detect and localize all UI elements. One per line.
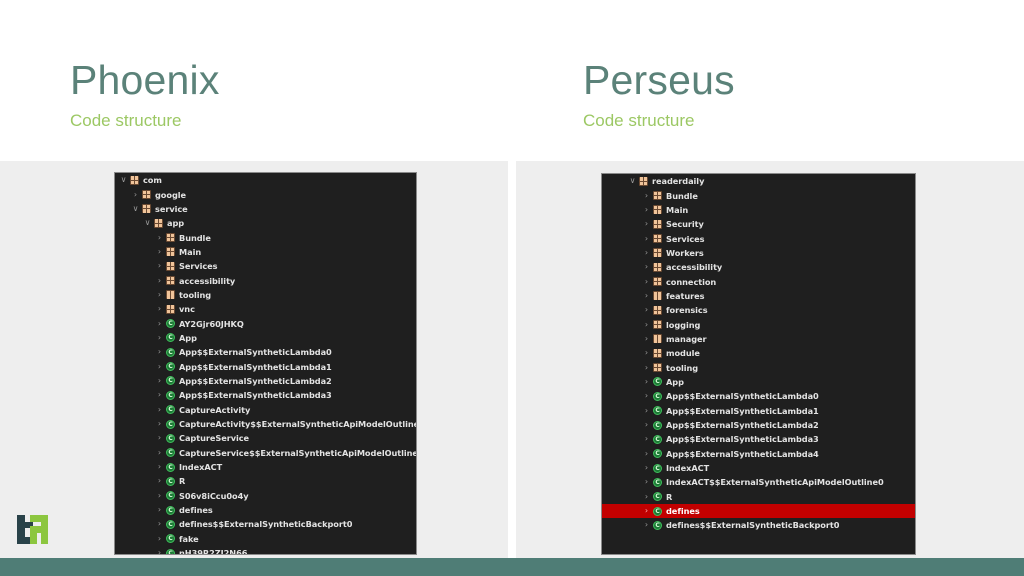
chevron-right-icon[interactable]: › bbox=[155, 277, 164, 285]
tree-row-label: IndexACT bbox=[666, 463, 709, 473]
class-icon: C bbox=[166, 434, 175, 443]
tree-row-label: google bbox=[155, 190, 186, 200]
tree-row-selected[interactable]: ›Cdefines bbox=[602, 504, 915, 518]
package-icon bbox=[130, 176, 139, 185]
chevron-right-icon[interactable]: › bbox=[155, 434, 164, 442]
chevron-right-icon[interactable]: › bbox=[642, 263, 651, 271]
package-icon bbox=[653, 363, 662, 372]
title-block-perseus: Perseus Code structure bbox=[583, 56, 735, 132]
tree-row[interactable]: ›CApp$$ExternalSyntheticLambda0 bbox=[115, 345, 416, 359]
chevron-right-icon[interactable]: › bbox=[155, 334, 164, 342]
class-icon: C bbox=[653, 449, 662, 458]
tree-row[interactable]: ›Bundle bbox=[602, 188, 915, 202]
chevron-right-icon[interactable]: › bbox=[642, 249, 651, 257]
chevron-right-icon[interactable]: › bbox=[642, 407, 651, 415]
chevron-down-icon[interactable]: ∨ bbox=[119, 176, 128, 184]
chevron-right-icon[interactable]: › bbox=[155, 320, 164, 328]
chevron-right-icon[interactable]: › bbox=[642, 392, 651, 400]
class-icon: C bbox=[653, 464, 662, 473]
tree-row-label: App$$ExternalSyntheticLambda2 bbox=[666, 420, 819, 430]
tree-row[interactable]: ›tooling bbox=[115, 288, 416, 302]
class-icon: C bbox=[166, 420, 175, 429]
tree-row[interactable]: ∨com bbox=[115, 173, 416, 187]
package-icon bbox=[154, 219, 163, 228]
tree-row[interactable]: ›CnH39R2ZI2N66 bbox=[115, 546, 416, 555]
chevron-right-icon[interactable]: › bbox=[642, 364, 651, 372]
package-icon bbox=[653, 320, 662, 329]
chevron-right-icon[interactable]: › bbox=[155, 291, 164, 299]
chevron-right-icon[interactable]: › bbox=[642, 278, 651, 286]
class-icon: C bbox=[166, 477, 175, 486]
package-icon bbox=[166, 276, 175, 285]
chevron-right-icon[interactable]: › bbox=[155, 420, 164, 428]
tree-row[interactable]: ›CApp$$ExternalSyntheticLambda3 bbox=[115, 388, 416, 402]
tree-row-label: app bbox=[167, 218, 184, 228]
tree-row-label: service bbox=[155, 204, 188, 214]
code-tree-phoenix[interactable]: ∨com›google∨service∨app›Bundle›Main›Serv… bbox=[114, 172, 417, 555]
package-icon bbox=[166, 233, 175, 242]
tree-row[interactable]: ›manager bbox=[602, 332, 915, 346]
class-icon: C bbox=[166, 534, 175, 543]
tree-row[interactable]: ›CCaptureService bbox=[115, 431, 416, 445]
package-icon bbox=[653, 277, 662, 286]
class-icon: C bbox=[166, 376, 175, 385]
tree-row-label: defines bbox=[666, 506, 700, 516]
package-icon bbox=[653, 248, 662, 257]
package-icon bbox=[653, 191, 662, 200]
tree-row[interactable]: ›Services bbox=[115, 259, 416, 273]
tree-row-label: CaptureActivity bbox=[179, 405, 250, 415]
tree-row[interactable]: ›CR bbox=[115, 474, 416, 488]
package-icon bbox=[653, 205, 662, 214]
title-block-phoenix: Phoenix Code structure bbox=[70, 56, 220, 132]
tree-row[interactable]: ›CIndexACT$$ExternalSyntheticApiModelOut… bbox=[602, 475, 915, 489]
chevron-right-icon[interactable]: › bbox=[642, 521, 651, 529]
class-icon: C bbox=[653, 478, 662, 487]
package-icon bbox=[166, 262, 175, 271]
chevron-right-icon[interactable]: › bbox=[155, 391, 164, 399]
tree-row[interactable]: ›CApp bbox=[115, 331, 416, 345]
page-subtitle-phoenix: Code structure bbox=[70, 110, 220, 132]
package-icon bbox=[653, 349, 662, 358]
chevron-right-icon[interactable]: › bbox=[642, 493, 651, 501]
tree-row-label: AY2Gjr60JHKQ bbox=[179, 319, 244, 329]
tree-row[interactable]: ›forensics bbox=[602, 303, 915, 317]
tree-row-label: defines bbox=[179, 505, 213, 515]
tree-row-label: tooling bbox=[179, 290, 211, 300]
tree-row[interactable]: ›Cdefines$$ExternalSyntheticBackport0 bbox=[602, 518, 915, 532]
class-icon: C bbox=[166, 549, 175, 555]
tree-row[interactable]: ›CApp bbox=[602, 375, 915, 389]
tree-row[interactable]: ›Security bbox=[602, 217, 915, 231]
chevron-right-icon[interactable]: › bbox=[642, 206, 651, 214]
package-icon bbox=[166, 290, 175, 299]
tree-row-label: Services bbox=[666, 234, 705, 244]
tree-row[interactable]: ∨app bbox=[115, 216, 416, 230]
class-icon: C bbox=[166, 520, 175, 529]
tree-row-label: tooling bbox=[666, 363, 698, 373]
tree-row-label: CaptureService$$ExternalSyntheticApiMode… bbox=[179, 448, 417, 458]
tree-row-label: IndexACT bbox=[179, 462, 222, 472]
class-icon: C bbox=[166, 506, 175, 515]
chevron-right-icon[interactable]: › bbox=[642, 192, 651, 200]
footer-bar bbox=[0, 558, 1024, 576]
class-icon: C bbox=[166, 391, 175, 400]
tree-row[interactable]: ›Bundle bbox=[115, 230, 416, 244]
tree-row-label: forensics bbox=[666, 305, 708, 315]
tree-row-label: App bbox=[179, 333, 197, 343]
class-icon: C bbox=[166, 491, 175, 500]
chevron-right-icon[interactable]: › bbox=[155, 449, 164, 457]
content-band: ∨com›google∨service∨app›Bundle›Main›Serv… bbox=[0, 161, 1024, 558]
tree-row[interactable]: ›Main bbox=[115, 245, 416, 259]
class-icon: C bbox=[166, 463, 175, 472]
tree-row-label: Workers bbox=[666, 248, 704, 258]
class-icon: C bbox=[166, 448, 175, 457]
tree-row-label: Main bbox=[666, 205, 688, 215]
slide-header: Phoenix Code structure Perseus Code stru… bbox=[0, 0, 1024, 161]
tree-row-label: R bbox=[179, 476, 185, 486]
tree-row[interactable]: ›CCaptureActivity bbox=[115, 403, 416, 417]
tree-row-label: Main bbox=[179, 247, 201, 257]
tree-row-label: App$$ExternalSyntheticLambda0 bbox=[179, 347, 332, 357]
chevron-down-icon[interactable]: ∨ bbox=[143, 219, 152, 227]
class-icon: C bbox=[653, 421, 662, 430]
class-icon: C bbox=[653, 406, 662, 415]
chevron-right-icon[interactable]: › bbox=[155, 549, 164, 555]
tree-row[interactable]: ›tooling bbox=[602, 360, 915, 374]
class-icon: C bbox=[166, 348, 175, 357]
chevron-right-icon[interactable]: › bbox=[642, 507, 651, 515]
tree-row-label: accessibility bbox=[179, 276, 235, 286]
chevron-right-icon[interactable]: › bbox=[642, 464, 651, 472]
tree-row[interactable]: ›accessibility bbox=[115, 273, 416, 287]
class-icon: C bbox=[653, 392, 662, 401]
tree-row-label: nH39R2ZI2N66 bbox=[179, 548, 247, 555]
tree-row-label: Bundle bbox=[666, 191, 698, 201]
chevron-right-icon[interactable]: › bbox=[642, 378, 651, 386]
tree-row-label: vnc bbox=[179, 304, 195, 314]
class-icon: C bbox=[166, 362, 175, 371]
class-icon: C bbox=[653, 492, 662, 501]
panel-perseus: ∨readerdaily›Bundle›Main›Security›Servic… bbox=[516, 161, 1024, 558]
package-icon bbox=[166, 247, 175, 256]
tree-row-label: R bbox=[666, 492, 672, 502]
tree-row-label: module bbox=[666, 348, 700, 358]
chevron-down-icon[interactable]: ∨ bbox=[131, 205, 140, 213]
tree-row[interactable]: ∨service bbox=[115, 202, 416, 216]
tree-row-label: defines$$ExternalSyntheticBackport0 bbox=[179, 519, 352, 529]
chevron-right-icon[interactable]: › bbox=[642, 306, 651, 314]
package-icon bbox=[653, 234, 662, 243]
tree-row-label: IndexACT$$ExternalSyntheticApiModelOutli… bbox=[666, 477, 884, 487]
tree-row[interactable]: ›Cdefines$$ExternalSyntheticBackport0 bbox=[115, 517, 416, 531]
tree-row[interactable]: ›CCaptureActivity$$ExternalSyntheticApiM… bbox=[115, 417, 416, 431]
chevron-right-icon[interactable]: › bbox=[642, 435, 651, 443]
chevron-right-icon[interactable]: › bbox=[155, 492, 164, 500]
tree-row-label: manager bbox=[666, 334, 707, 344]
chevron-right-icon[interactable]: › bbox=[155, 520, 164, 528]
tree-row[interactable]: ›accessibility bbox=[602, 260, 915, 274]
package-icon bbox=[653, 334, 662, 343]
tree-row[interactable]: ›CIndexACT bbox=[115, 460, 416, 474]
package-icon bbox=[639, 177, 648, 186]
page-subtitle-perseus: Code structure bbox=[583, 110, 735, 132]
chevron-right-icon[interactable]: › bbox=[155, 463, 164, 471]
tree-row-label: connection bbox=[666, 277, 716, 287]
tree-row[interactable]: ›CApp$$ExternalSyntheticLambda4 bbox=[602, 447, 915, 461]
tree-row[interactable]: ›CR bbox=[602, 490, 915, 504]
tree-row[interactable]: ›CApp$$ExternalSyntheticLambda2 bbox=[115, 374, 416, 388]
tree-row[interactable]: ›CApp$$ExternalSyntheticLambda2 bbox=[602, 418, 915, 432]
chevron-right-icon[interactable]: › bbox=[642, 220, 651, 228]
tree-row[interactable]: ›CApp$$ExternalSyntheticLambda0 bbox=[602, 389, 915, 403]
tree-row-label: logging bbox=[666, 320, 700, 330]
chevron-down-icon[interactable]: ∨ bbox=[628, 177, 637, 185]
tree-row-label: com bbox=[143, 175, 162, 185]
chevron-right-icon[interactable]: › bbox=[642, 235, 651, 243]
page-title-phoenix: Phoenix bbox=[70, 56, 220, 104]
tree-row[interactable]: ›CAY2Gjr60JHKQ bbox=[115, 316, 416, 330]
chevron-right-icon[interactable]: › bbox=[155, 262, 164, 270]
tree-row-label: accessibility bbox=[666, 262, 722, 272]
chevron-right-icon[interactable]: › bbox=[155, 363, 164, 371]
tree-row[interactable]: ›module bbox=[602, 346, 915, 360]
package-icon bbox=[653, 220, 662, 229]
panel-phoenix: ∨com›google∨service∨app›Bundle›Main›Serv… bbox=[0, 161, 508, 558]
tree-row-label: App bbox=[666, 377, 684, 387]
tree-row-label: App$$ExternalSyntheticLambda0 bbox=[666, 391, 819, 401]
tree-row-label: App$$ExternalSyntheticLambda4 bbox=[666, 449, 819, 459]
tree-row[interactable]: ›CApp$$ExternalSyntheticLambda3 bbox=[602, 432, 915, 446]
tree-row[interactable]: ›features bbox=[602, 289, 915, 303]
tree-row[interactable]: ›Main bbox=[602, 203, 915, 217]
chevron-right-icon[interactable]: › bbox=[642, 335, 651, 343]
tree-row[interactable]: ›connection bbox=[602, 274, 915, 288]
tree-row-label: Services bbox=[179, 261, 218, 271]
tree-row-label: fake bbox=[179, 534, 199, 544]
class-icon: C bbox=[653, 377, 662, 386]
tree-row-label: App$$ExternalSyntheticLambda1 bbox=[179, 362, 332, 372]
tree-row-label: App$$ExternalSyntheticLambda3 bbox=[179, 390, 332, 400]
logo-mark-icon bbox=[16, 514, 50, 546]
chevron-right-icon[interactable]: › bbox=[642, 478, 651, 486]
tree-row[interactable]: ›Services bbox=[602, 231, 915, 245]
package-icon bbox=[653, 306, 662, 315]
tree-row[interactable]: ›Cdefines bbox=[115, 503, 416, 517]
tree-row[interactable]: ›CApp$$ExternalSyntheticLambda1 bbox=[602, 404, 915, 418]
class-icon: C bbox=[166, 333, 175, 342]
chevron-right-icon[interactable]: › bbox=[155, 348, 164, 356]
chevron-right-icon[interactable]: › bbox=[155, 406, 164, 414]
tree-row-label: S06v8iCcu0o4y bbox=[179, 491, 249, 501]
tree-row[interactable]: ›vnc bbox=[115, 302, 416, 316]
chevron-right-icon[interactable]: › bbox=[642, 421, 651, 429]
package-icon bbox=[653, 291, 662, 300]
tree-row[interactable]: ∨readerdaily bbox=[602, 174, 915, 188]
chevron-right-icon[interactable]: › bbox=[642, 321, 651, 329]
tree-row[interactable]: ›CS06v8iCcu0o4y bbox=[115, 489, 416, 503]
tree-row[interactable]: ›logging bbox=[602, 317, 915, 331]
tree-row[interactable]: ›CApp$$ExternalSyntheticLambda1 bbox=[115, 359, 416, 373]
class-icon: C bbox=[653, 507, 662, 516]
tree-row[interactable]: ›CCaptureService$$ExternalSyntheticApiMo… bbox=[115, 446, 416, 460]
class-icon: C bbox=[653, 435, 662, 444]
page-title-perseus: Perseus bbox=[583, 56, 735, 104]
package-icon bbox=[142, 190, 151, 199]
tree-row-label: readerdaily bbox=[652, 176, 704, 186]
tree-row-label: Bundle bbox=[179, 233, 211, 243]
chevron-right-icon[interactable]: › bbox=[155, 506, 164, 514]
package-icon bbox=[653, 263, 662, 272]
tree-row[interactable]: ›Workers bbox=[602, 246, 915, 260]
class-icon: C bbox=[653, 521, 662, 530]
chevron-right-icon[interactable]: › bbox=[155, 234, 164, 242]
tree-row-label: App$$ExternalSyntheticLambda1 bbox=[666, 406, 819, 416]
chevron-right-icon[interactable]: › bbox=[642, 292, 651, 300]
chevron-right-icon[interactable]: › bbox=[155, 305, 164, 313]
chevron-right-icon[interactable]: › bbox=[131, 191, 140, 199]
tree-row-label: CaptureActivity$$ExternalSyntheticApiMod… bbox=[179, 419, 417, 429]
tree-row-label: CaptureService bbox=[179, 433, 249, 443]
tree-row-label: Security bbox=[666, 219, 704, 229]
class-icon: C bbox=[166, 405, 175, 414]
tree-row-label: defines$$ExternalSyntheticBackport0 bbox=[666, 520, 839, 530]
package-icon bbox=[142, 204, 151, 213]
package-icon bbox=[166, 305, 175, 314]
class-icon: C bbox=[166, 319, 175, 328]
tree-row-label: App$$ExternalSyntheticLambda2 bbox=[179, 376, 332, 386]
chevron-right-icon[interactable]: › bbox=[155, 248, 164, 256]
chevron-right-icon[interactable]: › bbox=[155, 377, 164, 385]
chevron-right-icon[interactable]: › bbox=[155, 535, 164, 543]
tree-row-label: features bbox=[666, 291, 704, 301]
chevron-right-icon[interactable]: › bbox=[642, 450, 651, 458]
tree-row[interactable]: ›Cfake bbox=[115, 532, 416, 546]
tree-row-label: App$$ExternalSyntheticLambda3 bbox=[666, 434, 819, 444]
chevron-right-icon[interactable]: › bbox=[155, 477, 164, 485]
tree-row[interactable]: ›google bbox=[115, 187, 416, 201]
tree-row[interactable]: ›CIndexACT bbox=[602, 461, 915, 475]
code-tree-perseus[interactable]: ∨readerdaily›Bundle›Main›Security›Servic… bbox=[601, 173, 916, 555]
chevron-right-icon[interactable]: › bbox=[642, 349, 651, 357]
company-logo bbox=[16, 514, 50, 546]
